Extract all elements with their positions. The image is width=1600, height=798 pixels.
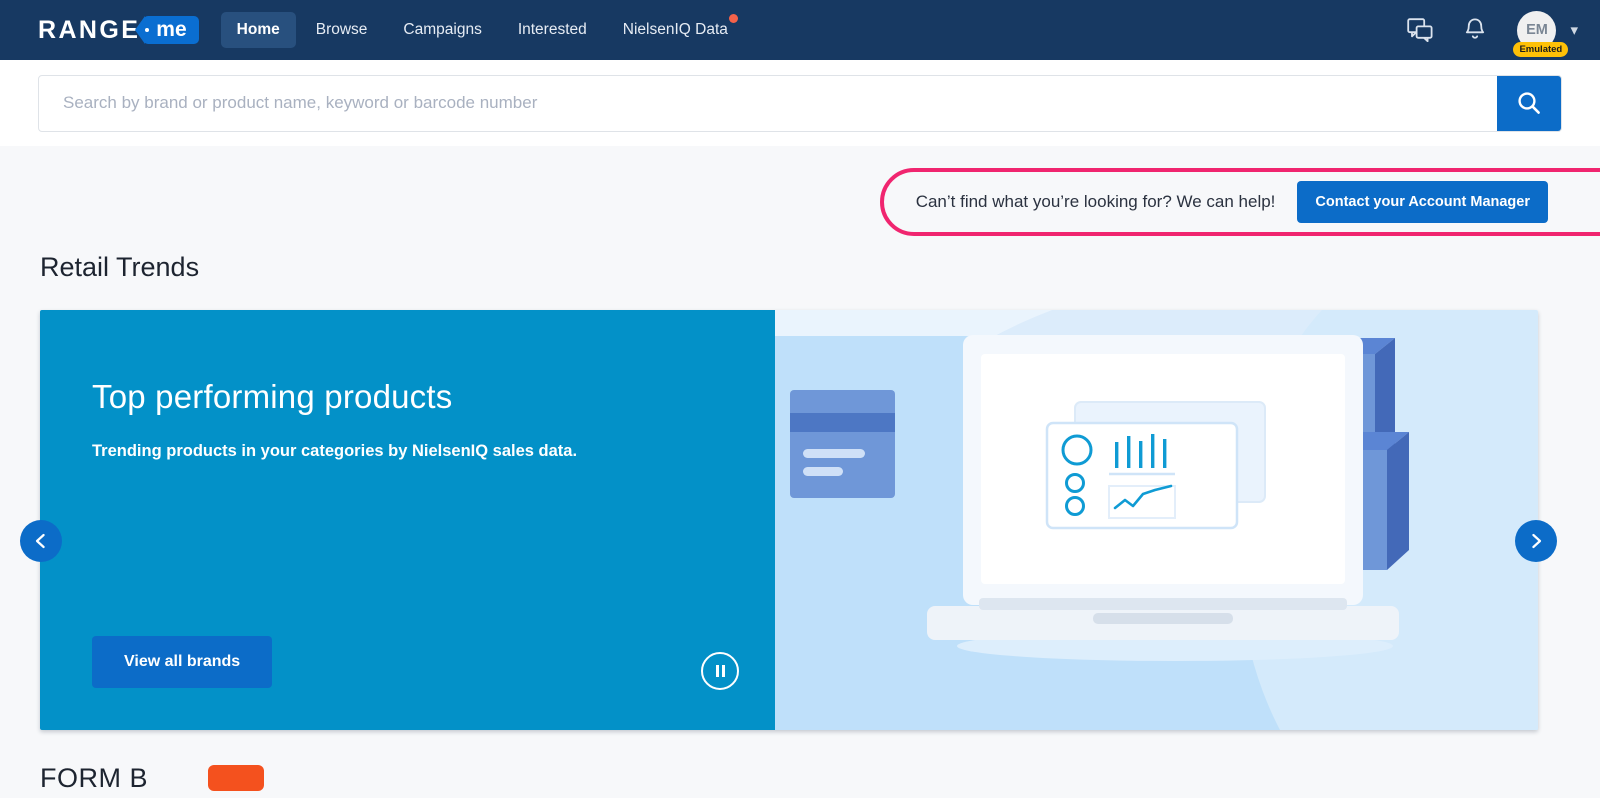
hero-text-panel: Top performing products Trending product… [40, 310, 775, 730]
emulated-badge: Emulated [1513, 42, 1568, 57]
search-input[interactable] [39, 76, 1497, 131]
search-bar-area [0, 60, 1600, 146]
chevron-left-icon [32, 532, 50, 550]
nav-right-actions: EM Emulated ▾ [1407, 11, 1578, 50]
view-all-brands-button[interactable]: View all brands [92, 636, 272, 688]
account-menu[interactable]: EM Emulated ▾ [1517, 11, 1578, 50]
page-section-title: Retail Trends [40, 252, 199, 283]
nav-label-browse: Browse [316, 21, 368, 38]
pause-icon-bar-left [716, 665, 719, 677]
nav-label-campaigns: Campaigns [403, 21, 481, 38]
nav-label-interested: Interested [518, 21, 587, 38]
hero-illustration-panel [775, 310, 1538, 730]
next-section-preview: FORM B [40, 758, 264, 798]
analytics-illustration [775, 310, 1538, 730]
search-box [38, 75, 1562, 132]
nav-label-home: Home [237, 21, 280, 38]
bell-icon[interactable] [1463, 17, 1487, 43]
search-icon [1516, 90, 1542, 116]
next-section-title: FORM B [40, 763, 148, 794]
notification-dot-icon [729, 14, 738, 23]
pause-icon-bar-right [722, 665, 725, 677]
nav-label-nielseniq-data: NielsenIQ Data [623, 21, 728, 38]
nav-item-home[interactable]: Home [221, 12, 296, 48]
main-content: Can’t find what you’re looking for? We c… [0, 146, 1600, 798]
chevron-right-icon [1527, 532, 1545, 550]
retail-trends-hero-card: Top performing products Trending product… [40, 310, 1538, 730]
account-manager-message: Can’t find what you’re looking for? We c… [916, 192, 1276, 212]
nav-item-interested[interactable]: Interested [502, 12, 603, 48]
logo-text-range: RANGE [38, 16, 140, 45]
avatar-initials: EM [1526, 22, 1548, 38]
carousel-pause-button[interactable] [701, 652, 739, 690]
credit-card-illustration [790, 390, 895, 498]
main-nav-links: Home Browse Campaigns Interested Nielsen… [221, 12, 744, 48]
chat-icon[interactable] [1407, 18, 1433, 42]
nav-item-campaigns[interactable]: Campaigns [387, 12, 497, 48]
carousel-prev-button[interactable] [20, 520, 62, 562]
top-navigation-bar: RANGE me Home Browse Campaigns Intereste… [0, 0, 1600, 60]
carousel-next-button[interactable] [1515, 520, 1557, 562]
laptop-illustration [927, 335, 1399, 640]
hero-subtitle: Trending products in your categories by … [92, 442, 775, 461]
nav-item-nielseniq-data[interactable]: NielsenIQ Data [607, 12, 744, 48]
search-button[interactable] [1497, 76, 1561, 131]
hero-title: Top performing products [92, 378, 775, 416]
logo-tag-me: me [143, 16, 198, 45]
nav-item-browse[interactable]: Browse [300, 12, 384, 48]
contact-account-manager-button[interactable]: Contact your Account Manager [1297, 181, 1548, 223]
account-manager-banner: Can’t find what you’re looking for? We c… [880, 168, 1600, 236]
next-section-badge [208, 765, 264, 791]
rangeme-logo[interactable]: RANGE me [38, 16, 199, 45]
chevron-down-icon[interactable]: ▾ [1570, 21, 1578, 39]
